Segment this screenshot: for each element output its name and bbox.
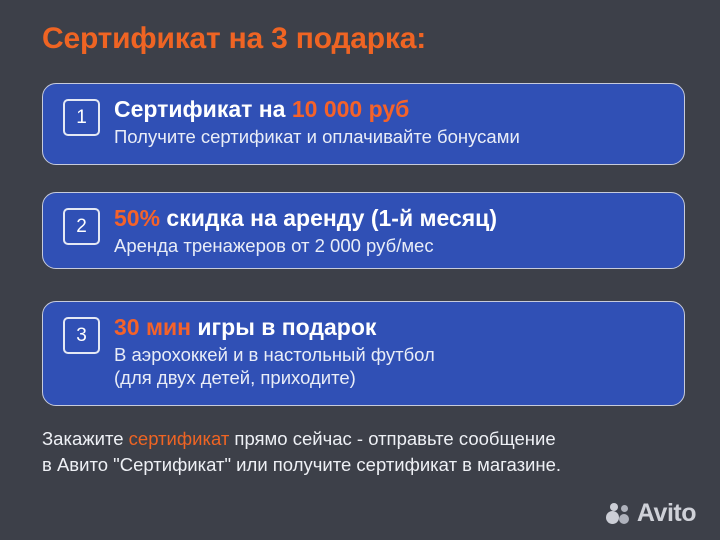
offer-number-badge-2: 2 (63, 208, 100, 245)
offer-title-3-highlight: 30 мин (114, 314, 191, 340)
offer-title-1: Сертификат на 10 000 руб (114, 96, 668, 123)
offer-card-1[interactable]: 1 Сертификат на 10 000 руб Получите серт… (42, 83, 685, 165)
cta-line-1-after: прямо сейчас - отправьте сообщение (229, 428, 555, 449)
cta-line-1-highlight: сертификат (129, 428, 230, 449)
avito-wordmark: Avito (637, 501, 696, 526)
offer-subtitle-1-line-1: Получите сертификат и оплачивайте бонуса… (114, 125, 668, 148)
offer-title-1-text-before: Сертификат на (114, 96, 292, 122)
offer-number-badge-3: 3 (63, 317, 100, 354)
offer-number-badge-1: 1 (63, 99, 100, 136)
offer-card-body-2: 50% скидка на аренду (1-й месяц) Аренда … (114, 205, 668, 257)
offer-card-body-1: Сертификат на 10 000 руб Получите сертиф… (114, 96, 668, 148)
offer-title-3-text-after: игры в подарок (191, 314, 376, 340)
offer-card-list: 1 Сертификат на 10 000 руб Получите серт… (42, 83, 685, 406)
cta-line-2: в Авито "Сертификат" или получите сертиф… (42, 454, 561, 475)
offer-subtitle-2-line-1: Аренда тренажеров от 2 000 руб/мес (114, 234, 668, 257)
offer-title-1-highlight: 10 000 руб (292, 96, 409, 122)
promo-poster: Сертификат на 3 подарка: 1 Сертификат на… (0, 0, 720, 540)
offer-title-2-text-after: скидка на аренду (1-й месяц) (160, 205, 497, 231)
offer-subtitle-3-line-1: В аэрохоккей и в настольный футбол (114, 343, 668, 366)
avito-logo: Avito (606, 501, 696, 526)
offer-title-2: 50% скидка на аренду (1-й месяц) (114, 205, 668, 232)
call-to-action-text: Закажите сертификат прямо сейчас - отпра… (42, 426, 692, 479)
offer-card-body-3: 30 мин игры в подарок В аэрохоккей и в н… (114, 314, 668, 389)
offer-title-2-highlight: 50% (114, 205, 160, 231)
offer-subtitle-3-line-2: (для двух детей, приходите) (114, 366, 668, 389)
offer-card-3[interactable]: 3 30 мин игры в подарок В аэрохоккей и в… (42, 301, 685, 406)
offer-card-2[interactable]: 2 50% скидка на аренду (1-й месяц) Аренд… (42, 192, 685, 269)
cta-line-1-before: Закажите (42, 428, 129, 449)
offer-title-3: 30 мин игры в подарок (114, 314, 668, 341)
avito-dots-icon (606, 502, 632, 526)
page-title: Сертификат на 3 подарка: (42, 22, 426, 56)
